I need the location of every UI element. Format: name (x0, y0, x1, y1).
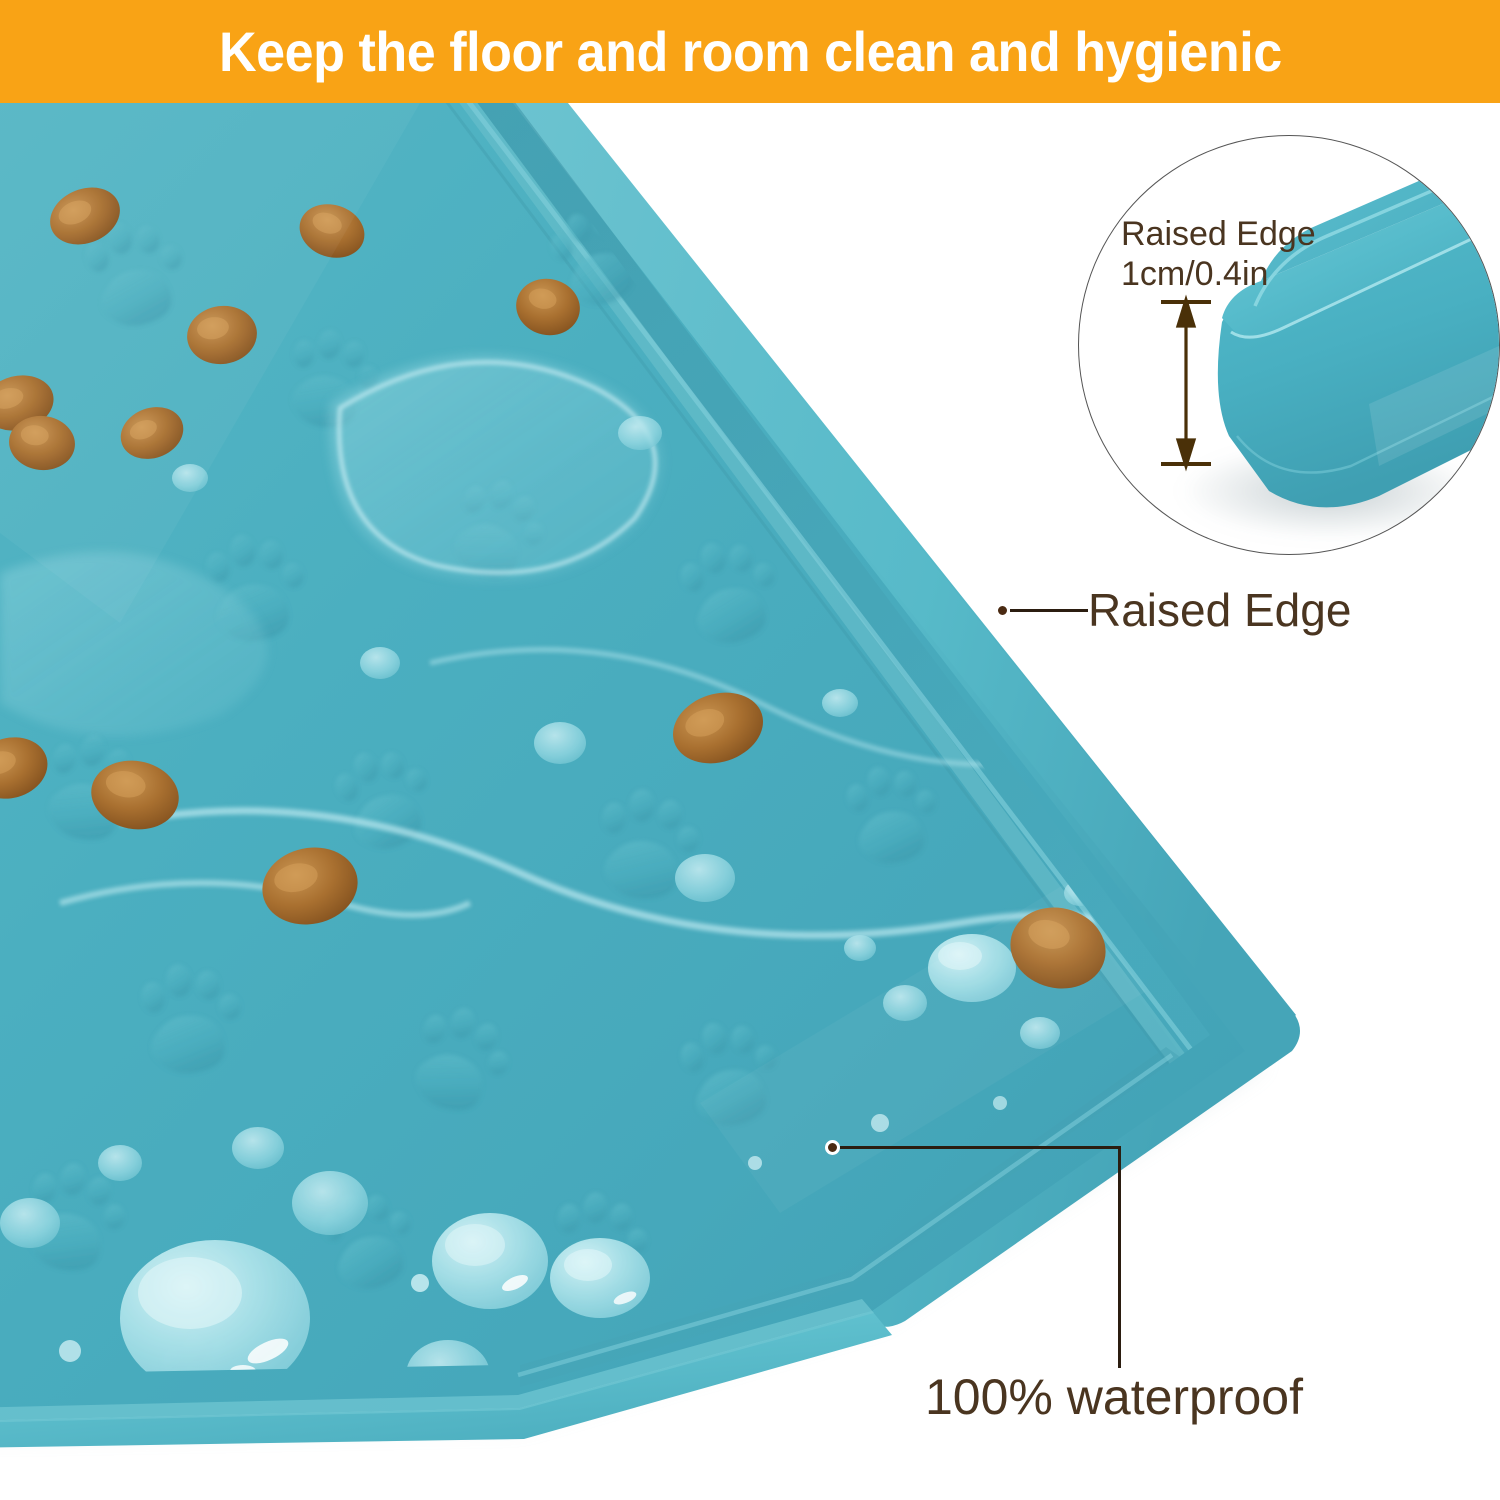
waterproof-leader-line-horizontal (840, 1146, 1120, 1149)
raised-edge-detail-inset: Raised Edge 1cm/0.4in (1078, 135, 1500, 555)
waterproof-callout-dot (825, 1140, 840, 1155)
waterproof-leader-line-vertical (1118, 1146, 1121, 1368)
banner-headline: Keep the floor and room clean and hygien… (219, 19, 1282, 84)
waterproof-label: 100% waterproof (925, 1368, 1303, 1426)
raised-edge-leader-line (1010, 609, 1088, 612)
inset-measurement-text: Raised Edge 1cm/0.4in (1121, 214, 1316, 294)
raised-edge-callout-dot (995, 603, 1010, 618)
product-feature-image: Keep the floor and room clean and hygien… (0, 0, 1500, 1500)
raised-edge-label: Raised Edge (1088, 583, 1351, 637)
inset-illustration (1079, 136, 1499, 554)
header-banner: Keep the floor and room clean and hygien… (0, 0, 1500, 103)
